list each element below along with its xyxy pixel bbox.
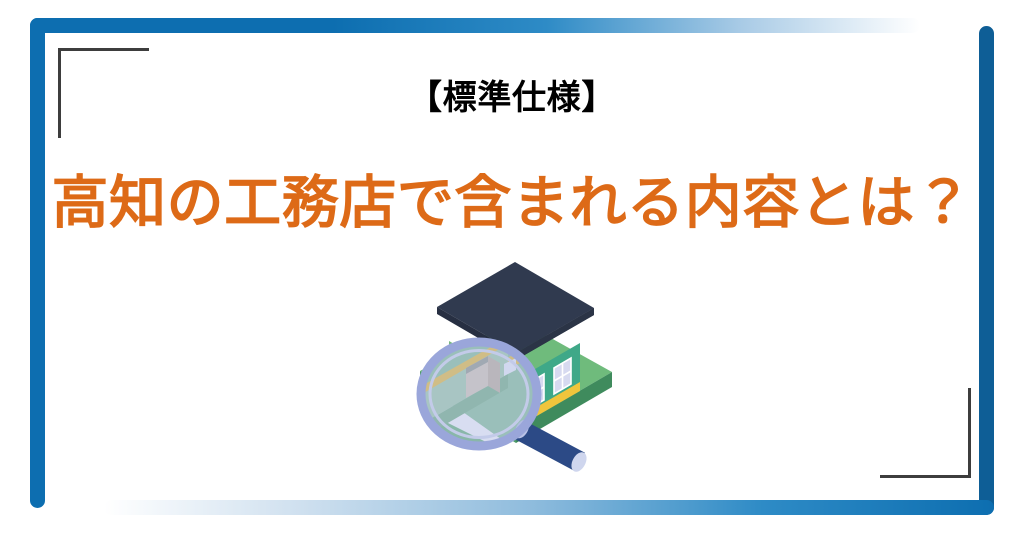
eyebrow-label: 【標準仕様】 [0,78,1024,119]
magnifier-lens-icon [421,342,537,446]
frame-top-bar [30,18,920,33]
banner-canvas: 【標準仕様】 高知の工務店で含まれる内容とは？ [0,0,1024,542]
house-magnifier-svg [408,248,623,483]
page-title: 高知の工務店で含まれる内容とは？ [0,168,1024,239]
corner-bracket-bottom-right [880,388,971,478]
frame-bottom-bar [104,500,994,515]
house-with-magnifier-illustration [408,248,623,483]
